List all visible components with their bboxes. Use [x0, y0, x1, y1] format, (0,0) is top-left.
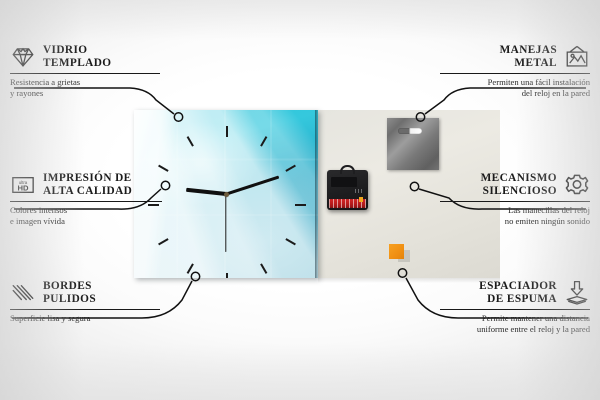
callout-header: ultra HD IMPRESIÓN DE ALTA CALIDAD: [10, 172, 162, 198]
mechanism-label-text: [355, 189, 364, 193]
callout-title: MANEJAS METAL: [500, 44, 557, 70]
callout-manejas-metal: MANEJAS METAL Permiten una fácil instala…: [440, 44, 590, 98]
callout-header: ESPACIADOR DE ESPUMA: [440, 280, 590, 306]
diamond-icon: [10, 44, 36, 70]
picture-hanger-icon: [564, 44, 590, 70]
callout-mecanismo-silencioso: MECANISMO SILENCIOSO Las manecillas del …: [440, 172, 590, 226]
callout-title: ESPACIADOR DE ESPUMA: [479, 280, 557, 306]
callout-impresion-alta-calidad: ultra HD IMPRESIÓN DE ALTA CALIDAD Color…: [10, 172, 162, 226]
callout-description: Permiten una fácil instalación del reloj…: [440, 77, 590, 98]
callout-header: MECANISMO SILENCIOSO: [440, 172, 590, 198]
clock-mechanism: [327, 170, 368, 210]
callout-header: MANEJAS METAL: [440, 44, 590, 70]
hanger-slot: [398, 128, 422, 134]
battery: [329, 199, 366, 208]
callout-description: Colores intensos e imagen vívida: [10, 205, 162, 226]
polished-edges-icon: [10, 280, 36, 306]
clock-center-cap: [224, 192, 229, 197]
callout-title: VIDRIO TEMPLADO: [43, 44, 111, 70]
ultra-hd-icon: ultra HD: [10, 172, 36, 198]
callout-divider: [10, 309, 160, 310]
clock-side-edge: [315, 110, 318, 278]
callout-description: Permite mantener una distancia uniforme …: [440, 313, 590, 334]
callout-description: Las manecillas del reloj no emiten ningú…: [440, 205, 590, 226]
callout-header: BORDES PULIDOS: [10, 280, 160, 306]
callout-divider: [10, 201, 162, 202]
callout-vidrio-templado: VIDRIO TEMPLADO Resistencia a grietas y …: [10, 44, 160, 98]
callout-description: Resistencia a grietas y rayones: [10, 77, 160, 98]
callout-header: VIDRIO TEMPLADO: [10, 44, 160, 70]
mechanism-hanging-loop: [340, 165, 355, 174]
callout-divider: [440, 309, 590, 310]
infographic-canvas: VIDRIO TEMPLADO Resistencia a grietas y …: [0, 0, 600, 400]
battery-terminal: [359, 197, 363, 202]
callout-espaciador-espuma: ESPACIADOR DE ESPUMA Permite mantener un…: [440, 280, 590, 334]
callout-title: MECANISMO SILENCIOSO: [481, 172, 557, 198]
foam-spacer: [389, 244, 404, 259]
svg-text:HD: HD: [17, 184, 29, 193]
callout-divider: [10, 73, 160, 74]
metal-hanger-plate: [387, 118, 439, 170]
callout-title: IMPRESIÓN DE ALTA CALIDAD: [43, 172, 132, 198]
foam-spacer-icon: [564, 280, 590, 306]
callout-divider: [440, 201, 590, 202]
mechanism-body-ridge: [331, 177, 357, 187]
callout-divider: [440, 73, 590, 74]
callout-description: Superficie lisa y segura: [10, 313, 160, 323]
callout-bordes-pulidos: BORDES PULIDOS Superficie lisa y segura: [10, 280, 160, 324]
callout-title: BORDES PULIDOS: [43, 280, 96, 306]
gear-icon: [564, 172, 590, 198]
